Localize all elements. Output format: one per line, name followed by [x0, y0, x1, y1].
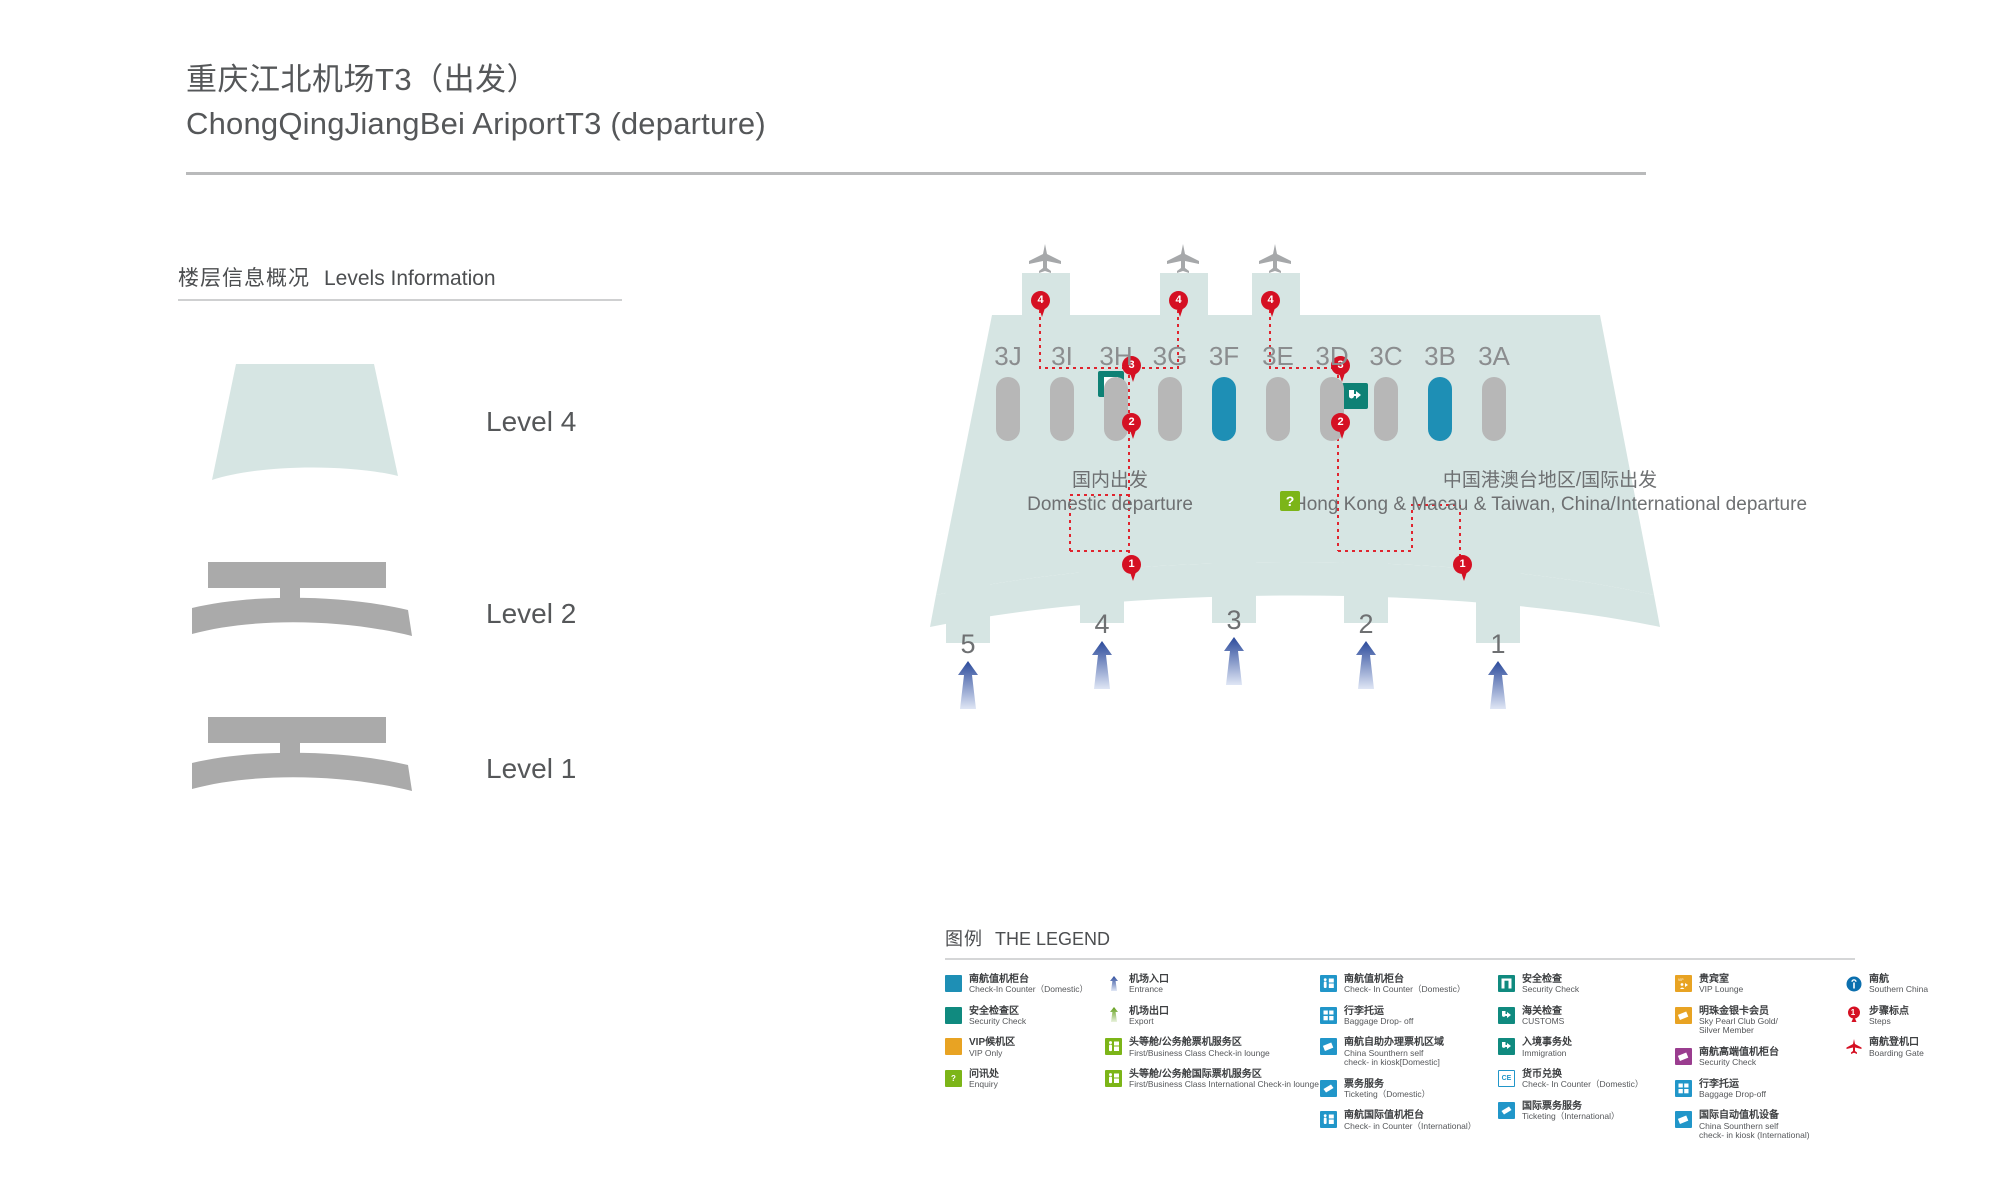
level-row-4[interactable]: Level 4: [190, 360, 650, 490]
counter-label-3B: 3B: [1410, 341, 1470, 372]
legend-item-en: Security Check: [969, 1017, 1026, 1027]
entrance-arrow-icon-3: [1212, 635, 1256, 691]
first-class-intl-lounge-icon: [1105, 1070, 1122, 1087]
legend-item-cn: 入境事务处: [1522, 1037, 1572, 1048]
legend-item-en: Immigration: [1522, 1049, 1572, 1059]
entrance-arrow-icon-2: [1344, 639, 1388, 695]
export-arrow-icon: [1105, 1007, 1122, 1024]
boarding-gate-marker-west[interactable]: 4: [1031, 291, 1053, 319]
step-marker-icon-glyph: 1: [1845, 1007, 1861, 1020]
customs-icon: [1498, 1007, 1515, 1024]
legend-item[interactable]: VIP候机区 VIP Only: [945, 1037, 1095, 1058]
entrance-number-5: 5: [948, 629, 988, 660]
entrance-arrow-icon: [1105, 975, 1122, 992]
legend-item-en: Check- In Counter（Domestic）: [1522, 1080, 1643, 1090]
level-4-label: Level 4: [486, 406, 576, 438]
enquiry-icon-glyph: ?: [1286, 494, 1295, 508]
legend-item-en: Ticketing（International）: [1522, 1112, 1619, 1122]
legend-item-cn: 南航登机口: [1869, 1037, 1924, 1048]
area-label-international-en: Hong Kong & Macau & Taiwan, China/Intern…: [1220, 493, 1880, 517]
pin-step-number: 1: [1453, 555, 1472, 574]
legend-item-en: CUSTOMS: [1522, 1017, 1564, 1027]
legend-item-en: First/Business Class Check-in lounge: [1129, 1049, 1270, 1059]
counter-bar-3A[interactable]: [1482, 377, 1506, 441]
currency-exchange-icon: CE: [1498, 1070, 1515, 1087]
baggage-drop-icon: [1320, 1007, 1337, 1024]
entrance-arrow-icon-4: [1080, 639, 1124, 695]
intl-self-kiosk-icon: [1675, 1111, 1692, 1128]
counter-swatch-icon: [945, 975, 962, 992]
legend-column-4: 安全检查 Security Check 海关检查 CUSTOMS: [1498, 974, 1668, 1133]
entrance-number-3: 3: [1214, 605, 1254, 636]
legend-heading: 图例THE LEGEND: [945, 925, 1855, 951]
premium-checkin-icon: [1675, 1048, 1692, 1065]
legend-item-en: Baggage Drop- off: [1344, 1017, 1413, 1027]
entrance-number-1: 1: [1478, 629, 1518, 660]
levels-divider: [178, 299, 622, 301]
counter-label-3C: 3C: [1356, 341, 1416, 372]
level-2-shape: [190, 558, 420, 688]
levels-heading-en: Levels Information: [324, 267, 496, 290]
legend-item[interactable]: 头等舱/公务舱国际票机服务区 First/Business Class Inte…: [1105, 1069, 1315, 1090]
counter-label-3H: 3H: [1086, 341, 1146, 372]
enquiry-icon-box: ?: [1280, 491, 1300, 511]
legend-column-2: 机场入口 Entrance 机场出口 Export: [1105, 974, 1315, 1101]
legend-item-en: Check- In Counter（Domestic）: [1344, 985, 1465, 995]
ticketing-icon: [1320, 1080, 1337, 1097]
legend-item-en: Southern China: [1869, 985, 1928, 995]
legend-item-en: VIP Only: [969, 1049, 1015, 1059]
immigration-icon: [1498, 1038, 1515, 1055]
boarding-gate-plane-icon-center: [1166, 243, 1200, 278]
legend-item-en: Export: [1129, 1017, 1169, 1027]
entrance-number-2: 2: [1346, 609, 1386, 640]
southern-china-logo-icon: [1845, 975, 1862, 992]
entrance-marker-domestic[interactable]: 1: [1122, 555, 1144, 583]
area-label-international: 中国港澳台地区/国际出发 Hong Kong & Macau & Taiwan,…: [1220, 469, 1880, 517]
legend-item[interactable]: 南航国际值机柜台 Check- in Counter（International…: [1320, 1110, 1495, 1131]
boarding-gate-plane-icon-east: [1258, 243, 1292, 278]
enquiry-icon[interactable]: ?: [1280, 491, 1300, 511]
legend-item[interactable]: 行李托运 Baggage Drop-off: [1675, 1079, 1840, 1100]
page-title: 重庆江北机场T3（出发） ChongQingJiangBei AriportT3…: [186, 58, 766, 146]
boarding-gate-plane-icon: [1845, 1038, 1862, 1055]
intl-ticketing-icon: [1498, 1102, 1515, 1119]
vip-swatch-icon: [945, 1038, 962, 1055]
legend-column-5: VIP 贵宾室 VIP Lounge 明珠金银卡会员 Sky Pearl Clu…: [1675, 974, 1840, 1152]
counter-label-3E: 3E: [1248, 341, 1308, 372]
entrance-arrow-icon-5: [946, 659, 990, 715]
legend-column-1: 南航值机柜台 Check-In Counter（Domestic） 安全检查区 …: [945, 974, 1095, 1101]
legend-item-en: Security Check: [1699, 1058, 1779, 1068]
counter-label-3A: 3A: [1464, 341, 1524, 372]
legend-item[interactable]: 南航自助办理票机区域 China Sounthern self check- i…: [1320, 1037, 1495, 1067]
legend-item[interactable]: 国际票务服务 Ticketing（International）: [1498, 1101, 1668, 1122]
legend-item[interactable]: VIP 贵宾室 VIP Lounge: [1675, 974, 1840, 995]
legend-divider: [945, 958, 1855, 960]
legend-item-cn: 国际自动值机设备: [1699, 1110, 1810, 1121]
legend-item[interactable]: 南航值机柜台 Check-In Counter（Domestic）: [945, 974, 1095, 995]
first-class-lounge-icon: [1105, 1038, 1122, 1055]
legend-item-en2: check- in kiosk[Domestic]: [1344, 1058, 1444, 1068]
counter-bar-3E[interactable]: [1266, 377, 1290, 441]
levels-information-heading: 楼层信息概况Levels Information: [178, 262, 496, 292]
header-divider: [186, 172, 1646, 175]
legend-item-en: First/Business Class International Check…: [1129, 1080, 1319, 1090]
legend-item-en: Baggage Drop-off: [1699, 1090, 1766, 1100]
pin-step-number: 4: [1169, 291, 1188, 310]
legend-item[interactable]: CE 货币兑换 Check- In Counter（Domestic）: [1498, 1069, 1668, 1090]
checkin-marker-international[interactable]: 2: [1331, 413, 1353, 441]
legend-item[interactable]: 国际自动值机设备 China Sounthern self check- in …: [1675, 1110, 1840, 1140]
self-checkin-kiosk-icon: [1320, 1038, 1337, 1055]
legend-item[interactable]: 海关检查 CUSTOMS: [1498, 1006, 1668, 1027]
legend-columns: 南航值机柜台 Check-In Counter（Domestic） 安全检查区 …: [945, 974, 1855, 1154]
counter-label-3I: 3I: [1032, 341, 1092, 372]
legend-item[interactable]: 入境事务处 Immigration: [1498, 1037, 1668, 1058]
legend-item[interactable]: 票务服务 Ticketing（Domestic）: [1320, 1079, 1495, 1100]
legend-item-cn: 南航自助办理票机区域: [1344, 1037, 1444, 1048]
counter-bar-3I[interactable]: [1050, 377, 1074, 441]
step-marker-icon: 1: [1845, 1007, 1862, 1024]
counter-label-3G: 3G: [1140, 341, 1200, 372]
level-row-1[interactable]: Level 1: [190, 713, 650, 843]
boarding-gate-marker-east[interactable]: 4: [1261, 291, 1283, 319]
legend-item-en: Ticketing（Domestic）: [1344, 1090, 1430, 1100]
pin-step-number: 1: [1122, 555, 1141, 574]
page-title-cn: 重庆江北机场T3（出发）: [186, 58, 766, 102]
legend-item-en: Entrance: [1129, 985, 1169, 995]
legend-item-en: Security Check: [1522, 985, 1579, 995]
legend-heading-cn: 图例: [945, 929, 983, 949]
legend-item[interactable]: 明珠金银卡会员 Sky Pearl Club Gold/ Silver Memb…: [1675, 1006, 1840, 1036]
legend-item[interactable]: ? 问讯处 Enquiry: [945, 1069, 1095, 1090]
legend-item-en2: Silver Member: [1699, 1026, 1778, 1036]
legend-item[interactable]: 安全检查区 Security Check: [945, 1006, 1095, 1027]
legend-item-en: Check- in Counter（International）: [1344, 1122, 1476, 1132]
entrance-arrow-icon-1: [1476, 659, 1520, 715]
counter-bar-3J[interactable]: [996, 377, 1020, 441]
legend-item[interactable]: 南航值机柜台 Check- In Counter（Domestic）: [1320, 974, 1495, 995]
legend-item[interactable]: 机场出口 Export: [1105, 1006, 1315, 1027]
customs-icon-box: [1342, 383, 1368, 409]
terminal-map: 4 4 4 3 3 3J: [900, 255, 1880, 805]
currency-exchange-icon-glyph: CE: [1502, 1075, 1512, 1082]
pin-step-number: 4: [1261, 291, 1280, 310]
pin-step-number: 4: [1031, 291, 1050, 310]
legend-heading-en: THE LEGEND: [995, 929, 1110, 949]
counter-label-3J: 3J: [978, 341, 1038, 372]
legend-item-en: VIP Lounge: [1699, 985, 1743, 995]
checkin-counter-icon: [1320, 975, 1337, 992]
page-title-en: ChongQingJiangBei AriportT3 (departure): [186, 102, 766, 146]
security-check-icon: [1498, 975, 1515, 992]
legend-item-cn: VIP候机区: [969, 1037, 1015, 1048]
baggage-drop-off-icon: [1675, 1080, 1692, 1097]
entrance-number-4: 4: [1082, 609, 1122, 640]
customs-icon[interactable]: [1342, 383, 1368, 409]
legend-item[interactable]: 南航 Southern China: [1845, 974, 1955, 995]
counter-label-3F: 3F: [1194, 341, 1254, 372]
level-1-label: Level 1: [486, 753, 576, 785]
legend-item-cn: 南航国际值机柜台: [1344, 1110, 1476, 1121]
counter-bar-3C[interactable]: [1374, 377, 1398, 441]
legend-item-cn: 头等舱/公务舱票机服务区: [1129, 1037, 1270, 1048]
legend-item-en2: check- in kiosk (International): [1699, 1131, 1810, 1141]
legend-item[interactable]: 机场入口 Entrance: [1105, 974, 1315, 995]
route-path-overlay: [900, 255, 1880, 805]
legend-item-en: Check-In Counter（Domestic）: [969, 985, 1088, 995]
level-1-shape: [190, 713, 420, 843]
level-2-label: Level 2: [486, 598, 576, 630]
boarding-gate-marker-center[interactable]: 4: [1169, 291, 1191, 319]
vip-lounge-icon: VIP: [1675, 975, 1692, 992]
level-row-2[interactable]: Level 2: [190, 558, 650, 688]
legend-column-3: 南航值机柜台 Check- In Counter（Domestic） 行李托运 …: [1320, 974, 1495, 1142]
legend-item[interactable]: 南航登机口 Boarding Gate: [1845, 1037, 1955, 1058]
checkin-marker-domestic[interactable]: 2: [1122, 413, 1144, 441]
legend-panel: 图例THE LEGEND 南航值机柜台 Check-In Counter（Dom…: [945, 925, 1855, 1154]
legend-item[interactable]: 头等舱/公务舱票机服务区 First/Business Class Check-…: [1105, 1037, 1315, 1058]
boarding-gate-plane-icon-west: [1028, 243, 1062, 278]
counter-bar-3G[interactable]: [1158, 377, 1182, 441]
counter-label-3D: 3D: [1302, 341, 1362, 372]
legend-column-6: 南航 Southern China 1 步骤标点 Steps: [1845, 974, 1955, 1069]
pin-step-number: 2: [1331, 413, 1350, 432]
legend-item[interactable]: 行李托运 Baggage Drop- off: [1320, 1006, 1495, 1027]
level-4-shape: [190, 360, 420, 490]
legend-item-en: Boarding Gate: [1869, 1049, 1924, 1059]
pin-step-number: 2: [1122, 413, 1141, 432]
svg-text:VIP: VIP: [1678, 978, 1684, 982]
intl-checkin-counter-icon: [1320, 1111, 1337, 1128]
legend-item-en: Enquiry: [969, 1080, 999, 1090]
security-swatch-icon: [945, 1007, 962, 1024]
legend-item[interactable]: 南航高端值机柜台 Security Check: [1675, 1047, 1840, 1068]
area-label-international-cn: 中国港澳台地区/国际出发: [1220, 469, 1880, 493]
legend-item[interactable]: 安全检查 Security Check: [1498, 974, 1668, 995]
legend-item-en: Steps: [1869, 1017, 1909, 1027]
enquiry-icon: ?: [945, 1070, 962, 1087]
counter-bar-3F[interactable]: [1212, 377, 1236, 441]
legend-item[interactable]: 1 步骤标点 Steps: [1845, 1006, 1955, 1027]
levels-heading-cn: 楼层信息概况: [178, 267, 310, 290]
sky-pearl-club-icon: [1675, 1007, 1692, 1024]
counter-bar-3B[interactable]: [1428, 377, 1452, 441]
enquiry-icon-glyph: ?: [951, 1075, 956, 1083]
airport-map-page: 重庆江北机场T3（出发） ChongQingJiangBei AriportT3…: [0, 0, 2000, 1200]
entrance-marker-international[interactable]: 1: [1453, 555, 1475, 583]
